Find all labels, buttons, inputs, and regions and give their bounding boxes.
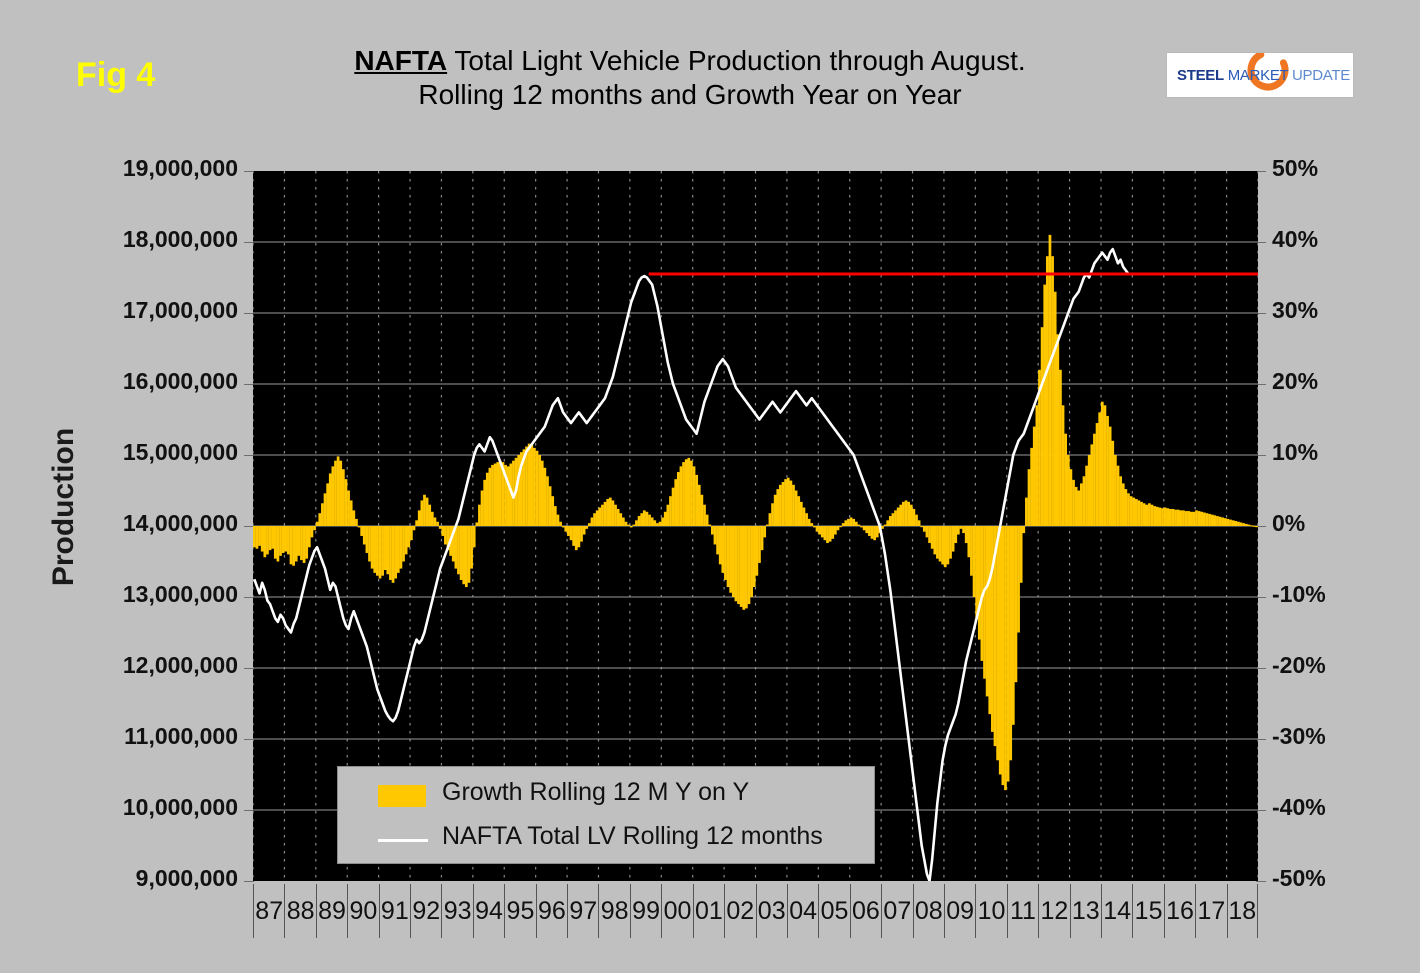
left-axis-tick-label: 11,000,000	[62, 723, 238, 750]
legend-label-production: NAFTA Total LV Rolling 12 months	[442, 822, 823, 851]
right-axis-tick-label: -10%	[1272, 581, 1364, 608]
left-axis-tick-label: 15,000,000	[62, 439, 238, 466]
legend-line-swatch	[378, 839, 428, 842]
x-axis-tick-label: 07	[881, 884, 912, 938]
x-axis-tick-label: 15	[1132, 884, 1163, 938]
right-axis-tick-labels: -50%-40%-30%-20%-10%0%10%20%30%40%50%	[1272, 0, 1364, 973]
right-axis-tick-label: 10%	[1272, 439, 1364, 466]
x-axis-tick-label: 11	[1007, 884, 1038, 938]
chart-legend: Growth Rolling 12 M Y on Y NAFTA Total L…	[337, 766, 875, 864]
chart-title-emphasis: NAFTA	[354, 45, 447, 76]
right-axis-tick-label: 30%	[1272, 297, 1364, 324]
x-axis-tick-label: 17	[1195, 884, 1226, 938]
left-axis-tick-label: 14,000,000	[62, 510, 238, 537]
legend-item-production: NAFTA Total LV Rolling 12 months	[338, 817, 874, 861]
growth-bars	[253, 235, 1258, 790]
x-axis-tick-label: 18	[1227, 884, 1258, 938]
chart-title-line-1: NAFTA Total Light Vehicle Production thr…	[240, 44, 1140, 78]
right-axis-tick-label: -30%	[1272, 723, 1364, 750]
right-axis-tick-label: -50%	[1272, 865, 1364, 892]
x-axis-tick-label: 91	[379, 884, 410, 938]
left-axis-tick-label: 19,000,000	[62, 155, 238, 182]
right-axis-tick-label: 20%	[1272, 368, 1364, 395]
x-axis-tick-label: 99	[630, 884, 661, 938]
right-axis-tick-label: 50%	[1272, 155, 1364, 182]
chart-title-line-2: Rolling 12 months and Growth Year on Yea…	[240, 78, 1140, 112]
left-axis-tick-label: 18,000,000	[62, 226, 238, 253]
chart-title-rest: Total Light Vehicle Production through A…	[447, 45, 1026, 76]
right-axis-tick-label: -20%	[1272, 652, 1364, 679]
x-axis-tick-label: 87	[253, 884, 284, 938]
x-axis-tick-label: 14	[1101, 884, 1132, 938]
right-axis-tick-label: -40%	[1272, 794, 1364, 821]
left-axis-tick-label: 12,000,000	[62, 652, 238, 679]
x-axis-tick-label: 06	[850, 884, 881, 938]
left-axis-tick-label: 16,000,000	[62, 368, 238, 395]
right-axis-tick-label: 40%	[1272, 226, 1364, 253]
right-axis-tick-mark	[1256, 881, 1266, 882]
x-axis-tick-label: 98	[598, 884, 629, 938]
legend-item-growth: Growth Rolling 12 M Y on Y	[338, 773, 874, 817]
x-axis-tick-label: 96	[536, 884, 567, 938]
x-axis-tick-label: 89	[316, 884, 347, 938]
x-axis-tick-label: 92	[410, 884, 441, 938]
chart-title: NAFTA Total Light Vehicle Production thr…	[240, 44, 1140, 111]
x-axis-tick-label: 04	[787, 884, 818, 938]
x-axis-tick-label: 08	[913, 884, 944, 938]
x-axis-tick-label: 16	[1164, 884, 1195, 938]
x-axis-tick-label: 90	[347, 884, 378, 938]
x-axis-tick-label: 00	[661, 884, 692, 938]
x-axis-tick-label: 09	[944, 884, 975, 938]
x-axis-tick-label: 13	[1070, 884, 1101, 938]
x-axis-tick-label: 95	[504, 884, 535, 938]
x-axis-tick-labels: 8788899091929394959697989900010203040506…	[253, 884, 1258, 938]
x-axis-tick-label: 02	[724, 884, 755, 938]
legend-bar-swatch	[378, 785, 426, 807]
x-axis-tick-label: 03	[756, 884, 787, 938]
left-axis-tick-label: 9,000,000	[62, 865, 238, 892]
left-axis-tick-labels: 19,000,00018,000,00017,000,00016,000,000…	[62, 0, 238, 973]
left-axis-tick-label: 10,000,000	[62, 794, 238, 821]
x-axis-tick-label: 94	[473, 884, 504, 938]
left-axis-tick-mark	[244, 881, 254, 882]
x-axis-tick-label: 12	[1038, 884, 1069, 938]
logo-word-steel: STEEL	[1177, 67, 1224, 84]
x-axis-tick-label: 01	[693, 884, 724, 938]
legend-label-growth: Growth Rolling 12 M Y on Y	[442, 778, 749, 807]
x-axis-tick-label: 05	[818, 884, 849, 938]
x-axis-tick-label: 97	[567, 884, 598, 938]
x-axis-tick-label: 88	[284, 884, 315, 938]
left-axis-tick-label: 17,000,000	[62, 297, 238, 324]
left-axis-tick-label: 13,000,000	[62, 581, 238, 608]
right-axis-tick-label: 0%	[1272, 510, 1364, 537]
x-axis-tick-label: 93	[441, 884, 472, 938]
x-axis-tick-label: 10	[975, 884, 1006, 938]
